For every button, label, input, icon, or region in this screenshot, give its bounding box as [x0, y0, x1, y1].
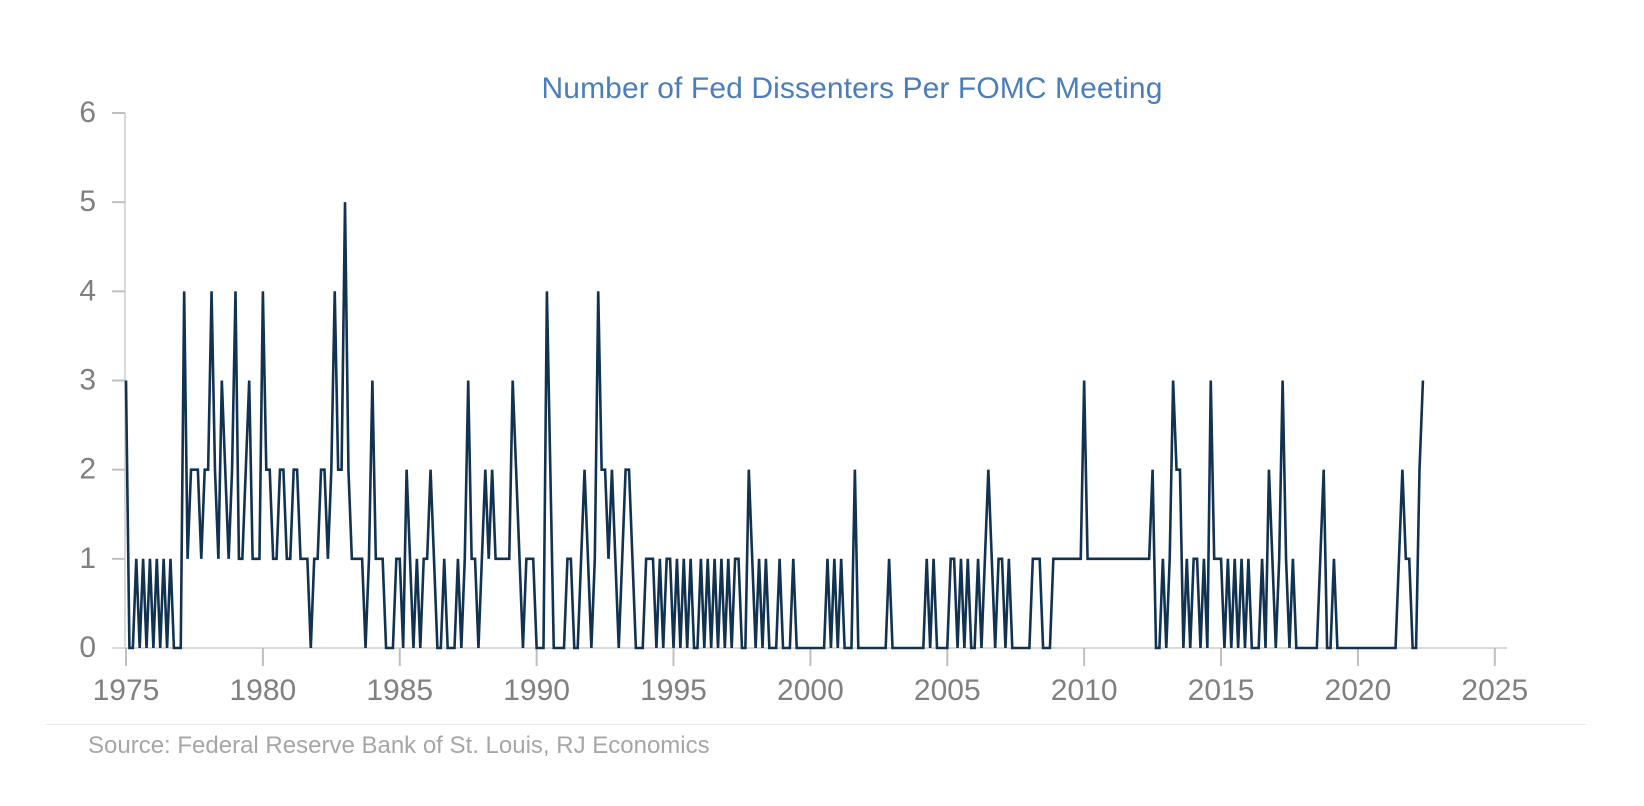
- x-tick-label: 2005: [914, 674, 981, 707]
- x-tick-label: 1985: [366, 674, 433, 707]
- y-tick-label: 6: [79, 96, 96, 129]
- x-tick-label: 1980: [230, 674, 297, 707]
- chart-plot-area: 0123456 19751980198519901995200020052010…: [0, 0, 1644, 806]
- x-tick-label: 2000: [777, 674, 844, 707]
- x-tick-label: 1975: [93, 674, 160, 707]
- source-divider: [46, 724, 1586, 725]
- y-tick-label: 5: [79, 185, 96, 218]
- x-tick-label: 2020: [1325, 674, 1392, 707]
- x-tick-label: 2025: [1461, 674, 1528, 707]
- x-tick-label: 1990: [503, 674, 570, 707]
- x-axis: 1975198019851990199520002005201020152020…: [93, 648, 1529, 707]
- data-series: [126, 202, 1423, 648]
- series-line-dissenters: [126, 202, 1423, 648]
- x-tick-label: 2010: [1051, 674, 1118, 707]
- y-tick-label: 4: [79, 274, 96, 307]
- y-tick-label: 3: [79, 363, 96, 396]
- source-note: Source: Federal Reserve Bank of St. Loui…: [88, 732, 710, 760]
- y-axis: 0123456: [79, 96, 125, 664]
- y-tick-label: 2: [79, 453, 96, 486]
- x-tick-label: 2015: [1188, 674, 1255, 707]
- x-tick-label: 1995: [640, 674, 707, 707]
- y-tick-label: 0: [79, 631, 96, 664]
- y-tick-label: 1: [79, 542, 96, 575]
- chart-container: Number of Fed Dissenters Per FOMC Meetin…: [0, 0, 1644, 806]
